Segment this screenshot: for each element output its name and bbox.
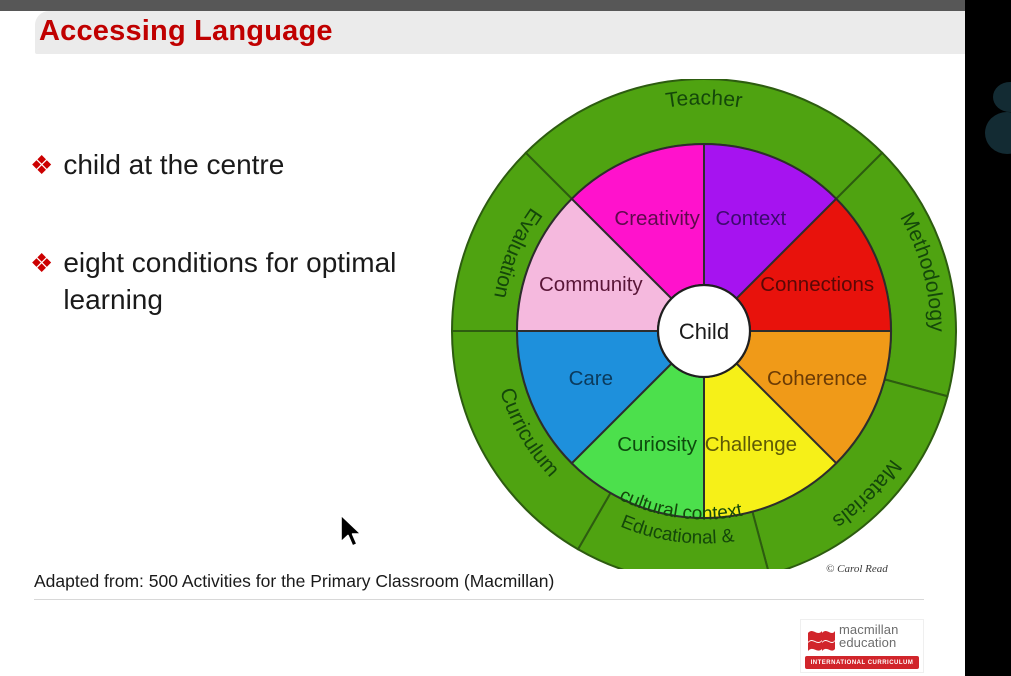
page-title: Accessing Language: [39, 15, 333, 48]
logo-line-1: macmillan: [839, 623, 898, 636]
wheel-center-label: Child: [679, 319, 729, 344]
wheel-inner-label: Curiosity: [617, 433, 697, 456]
video-blob-lower: [985, 112, 1011, 154]
diamond-bullet-icon: ❖: [30, 152, 53, 178]
wheel-inner-label: Community: [539, 273, 643, 296]
bullet-text: child at the centre: [63, 146, 284, 184]
wheel-outer-label: Teacher: [664, 86, 744, 112]
learning-conditions-wheel: Child ContextConnectionsCoherenceChallen…: [450, 79, 960, 569]
video-call-panel[interactable]: [965, 0, 1011, 676]
macmillan-education-logo: macmillan education INTERNATIONAL CURRIC…: [800, 619, 924, 673]
mouse-cursor: [338, 513, 364, 553]
wheel-inner-label: Connections: [760, 273, 874, 296]
macmillan-wave-icon: [806, 624, 836, 654]
wheel-inner-label: Challenge: [705, 433, 797, 456]
wheel-center-hub: Child: [658, 285, 750, 377]
list-item: ❖ child at the centre: [30, 146, 430, 184]
presentation-slide: Accessing Language ❖ child at the centre…: [0, 11, 965, 676]
bullet-text: eight conditions for optimal learning: [63, 244, 430, 319]
logo-ribbon-text: INTERNATIONAL CURRICULUM: [811, 660, 914, 666]
wheel-inner-label: Creativity: [614, 207, 700, 230]
wheel-inner-label: Coherence: [767, 367, 867, 390]
logo-ribbon: INTERNATIONAL CURRICULUM: [805, 656, 919, 669]
wheel-inner-label: Care: [569, 367, 613, 390]
list-item: ❖ eight conditions for optimal learning: [30, 244, 430, 319]
screen: Accessing Language ❖ child at the centre…: [0, 0, 1011, 676]
video-blob-upper: [993, 82, 1011, 112]
logo-line-2: education: [839, 636, 898, 649]
bullet-list: ❖ child at the centre ❖ eight conditions…: [30, 146, 430, 379]
wheel-inner-label: Context: [716, 207, 787, 230]
window-title-bar: [0, 0, 965, 11]
logo-wordmark: macmillan education: [839, 623, 898, 650]
source-note: Adapted from: 500 Activities for the Pri…: [34, 571, 924, 600]
diamond-bullet-icon: ❖: [30, 250, 53, 276]
